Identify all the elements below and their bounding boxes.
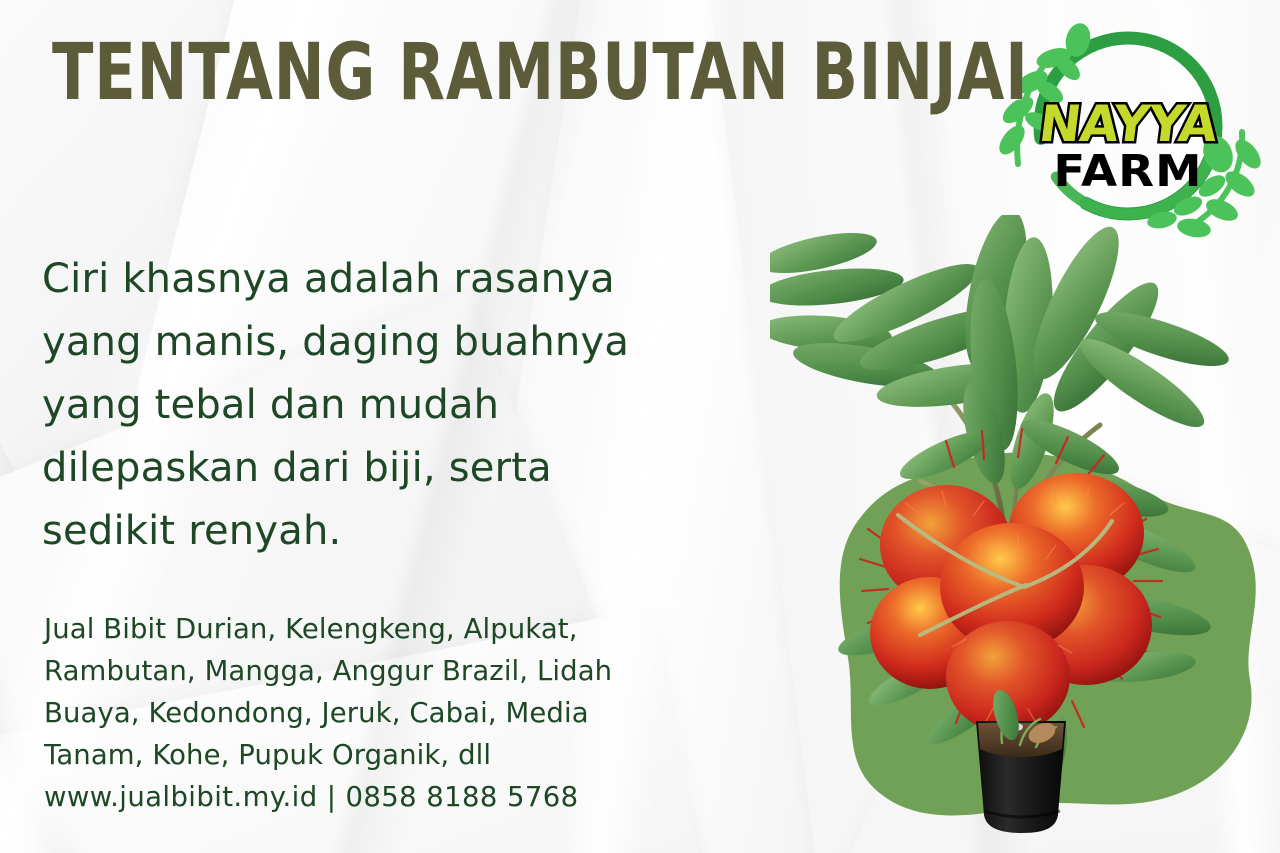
description-line: yang manis, daging buahnya [42, 311, 702, 374]
page-title: TENTANG RAMBUTAN BINJAI [52, 34, 1029, 113]
description-paragraph: Ciri khasnya adalah rasanya yang manis, … [42, 248, 702, 563]
nayya-farm-logo: NAYYA FARM [992, 14, 1264, 242]
rambutan-plant-image [770, 215, 1270, 835]
description-line: Ciri khasnya adalah rasanya [42, 248, 702, 311]
product-list-line: Rambutan, Mangga, Anggur Brazil, Lidah [44, 650, 724, 692]
description-line: dilepaskan dari biji, serta [42, 437, 702, 500]
product-list-line: Buaya, Kedondong, Jeruk, Cabai, Media [44, 692, 724, 734]
poster-canvas: NAYYA FARM TENTANG RAMBUTAN BINJAI Ciri … [0, 0, 1280, 853]
logo-sub-text: FARM [984, 150, 1272, 194]
description-line: yang tebal dan mudah [42, 374, 702, 437]
description-line: sedikit renyah. [42, 500, 702, 563]
product-list-line: Jual Bibit Durian, Kelengkeng, Alpukat, [44, 608, 724, 650]
contact-block: Jual Bibit Durian, Kelengkeng, Alpukat, … [44, 608, 724, 818]
logo-brand-text: NAYYA [989, 100, 1267, 148]
plant-leaves-upper [770, 215, 1234, 493]
website-and-phone[interactable]: www.jualbibit.my.id | 0858 8188 5768 [44, 776, 724, 818]
product-list-line: Tanam, Kohe, Pupuk Organik, dll [44, 734, 724, 776]
